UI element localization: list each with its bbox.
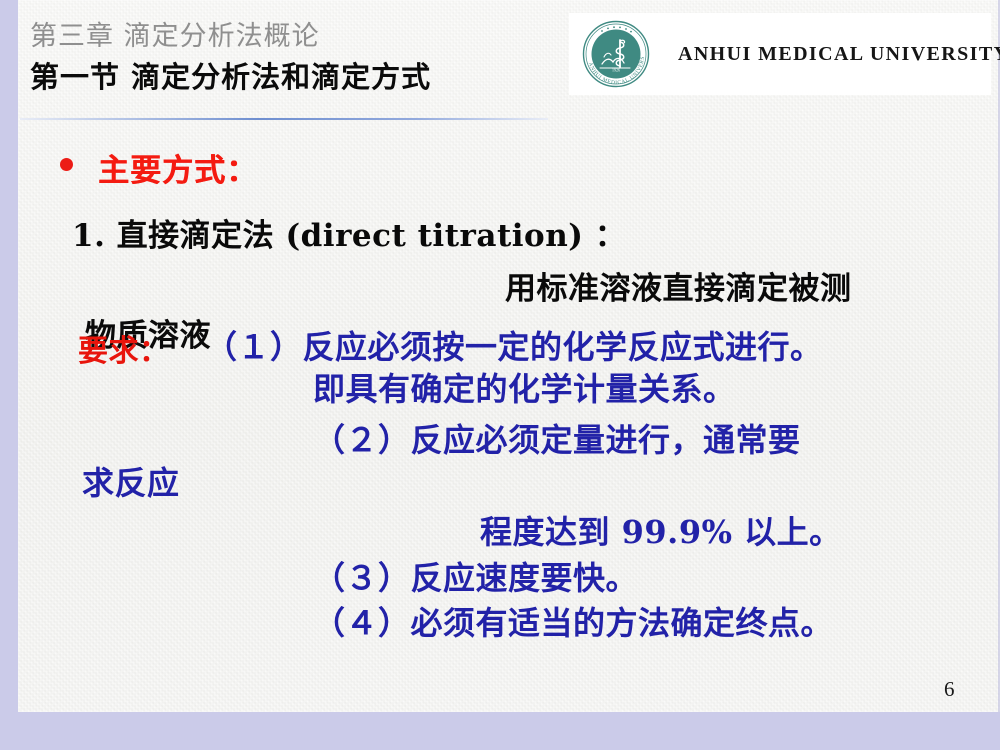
requirement-4-text: （４）必须有适当的方法确定终点。 [313, 598, 833, 644]
header-divider-rule [20, 118, 548, 120]
requirement-2-percentage-text: 程度达到 99.9% 以上。 [480, 507, 842, 553]
university-logo-block: ANHUI MEDICAL UNIVERSITY 1926 ANHUI MEDI… [570, 14, 990, 94]
requirement-1-text: （１）反应必须按一定的化学反应式进行。 [205, 322, 823, 368]
seal-year-text: 1926 [612, 68, 620, 73]
requirement-3-text: （３）反应速度要快。 [313, 553, 638, 599]
header-section-title: 第一节 滴定分析法和滴定方式 [30, 54, 431, 96]
requirement-1-continuation-text: 即具有确定的化学计量关系。 [313, 364, 736, 410]
header-chapter-title: 第三章 滴定分析法概论 [30, 14, 320, 53]
main-heading-text: 主要方式： [98, 145, 258, 190]
requirement-label-text: 要求： [78, 326, 170, 370]
university-seal-icon: ANHUI MEDICAL UNIVERSITY 1926 [582, 20, 650, 88]
requirement-2-text: （２）反应必须定量进行，通常要 [313, 415, 801, 461]
definition-line-1-text: 用标准溶液直接滴定被测 [505, 263, 852, 308]
university-name-label: ANHUI MEDICAL UNIVERSITY [678, 43, 1000, 66]
numbered-item-1-text: 1. 直接滴定法 (direct titration) ： [72, 210, 626, 255]
slide-header: 第三章 滴定分析法概论 第一节 滴定分析法和滴定方式 [18, 14, 578, 110]
requirement-2-continuation-text: 求反应 [82, 458, 180, 504]
red-dot-bullet-icon [60, 158, 73, 171]
slide-page-number: 6 [944, 677, 955, 702]
slide-canvas: 第三章 滴定分析法概论 第一节 滴定分析法和滴定方式 [0, 0, 1000, 750]
